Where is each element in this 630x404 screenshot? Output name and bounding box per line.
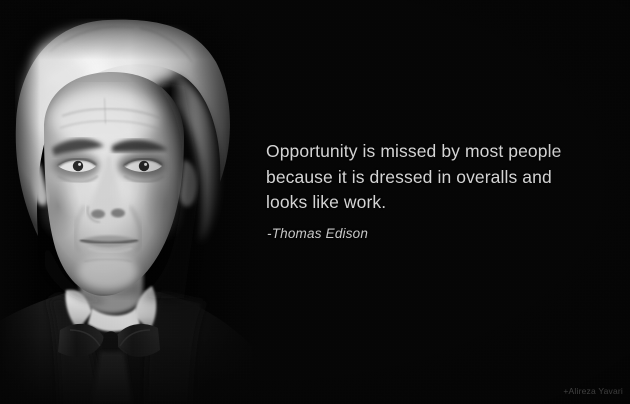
- quote-attribution: -Thomas Edison: [267, 226, 368, 241]
- watermark: +Alireza Yavari: [563, 386, 623, 396]
- quote-line-2: because it is dressed in overalls and: [266, 165, 586, 191]
- quote-text: Opportunity is missed by most people bec…: [266, 139, 586, 216]
- edison-portrait: [0, 0, 260, 404]
- quote-line-1: Opportunity is missed by most people: [266, 139, 586, 165]
- quote-line-3: looks like work.: [266, 190, 586, 216]
- quote-card: Opportunity is missed by most people bec…: [0, 0, 630, 404]
